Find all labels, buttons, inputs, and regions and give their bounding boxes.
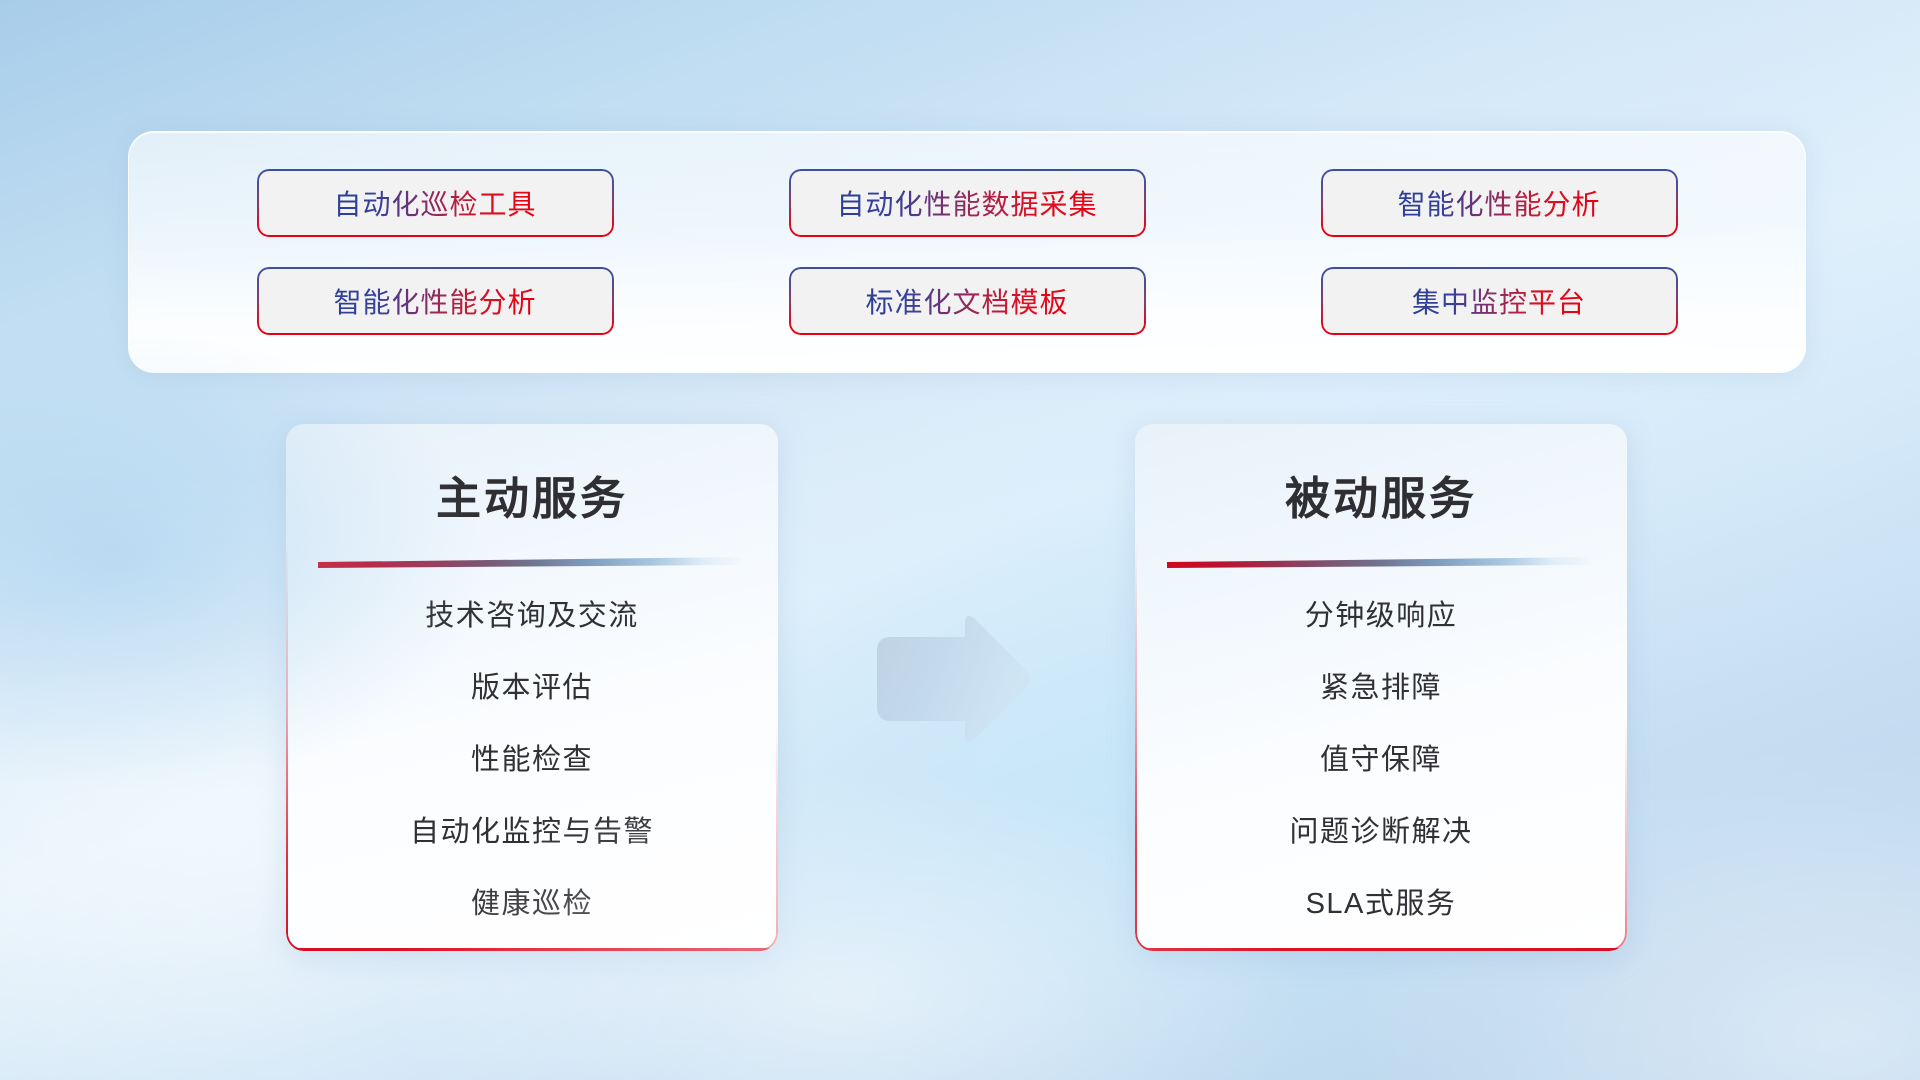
capability-chip-label: 智能化性能分析 (333, 281, 536, 321)
capability-chip[interactable]: 自动化性能数据采集 (789, 169, 1146, 237)
service-card-passive: 被动服务 分钟级响应 紧急排障 值守保障 问题诊断解决 SLA式服务 (1135, 424, 1627, 951)
list-item: 技术咨询及交流 (286, 602, 778, 631)
card-title: 主动服务 (286, 424, 778, 527)
capability-chip[interactable]: 集中监控平台 (1321, 267, 1678, 335)
service-item-list: 分钟级响应 紧急排障 值守保障 问题诊断解决 SLA式服务 (1135, 568, 1627, 919)
card-title: 被动服务 (1135, 424, 1627, 527)
card-divider-bar (1167, 557, 1595, 568)
capability-chip[interactable]: 标准化文档模板 (789, 267, 1146, 335)
list-item: 紧急排障 (1135, 674, 1627, 703)
list-item: 版本评估 (286, 674, 778, 703)
page-root: 自动化巡检工具 自动化性能数据采集 智能化性能分析 智能化性能分析 标准化文档模… (0, 0, 1920, 1080)
arrow-right-icon (873, 613, 1033, 751)
capability-chip[interactable]: 智能化性能分析 (257, 267, 614, 335)
list-item: 分钟级响应 (1135, 602, 1627, 631)
capability-chip[interactable]: 智能化性能分析 (1321, 169, 1678, 237)
list-item: 值守保障 (1135, 746, 1627, 775)
capability-chip-label: 自动化巡检工具 (333, 183, 536, 223)
list-item: 自动化监控与告警 (286, 818, 778, 847)
capability-chip-label: 集中监控平台 (1412, 281, 1586, 321)
capability-chip[interactable]: 自动化巡检工具 (257, 169, 614, 237)
capability-chip-label: 标准化文档模板 (865, 281, 1068, 321)
card-divider (1167, 557, 1595, 568)
capability-chip-label: 智能化性能分析 (1397, 183, 1600, 223)
list-item: 健康巡检 (286, 890, 778, 919)
capabilities-panel: 自动化巡检工具 自动化性能数据采集 智能化性能分析 智能化性能分析 标准化文档模… (128, 131, 1806, 373)
service-card-active: 主动服务 技术咨询及交流 版本评估 性能检查 自动化监控与告警 健康巡检 (286, 424, 778, 951)
capability-chip-label: 自动化性能数据采集 (836, 183, 1097, 223)
list-item: SLA式服务 (1135, 890, 1627, 919)
card-divider (318, 557, 746, 568)
service-item-list: 技术咨询及交流 版本评估 性能检查 自动化监控与告警 健康巡检 (286, 568, 778, 919)
list-item: 问题诊断解决 (1135, 818, 1627, 847)
card-divider-bar (318, 557, 746, 568)
list-item: 性能检查 (286, 746, 778, 775)
